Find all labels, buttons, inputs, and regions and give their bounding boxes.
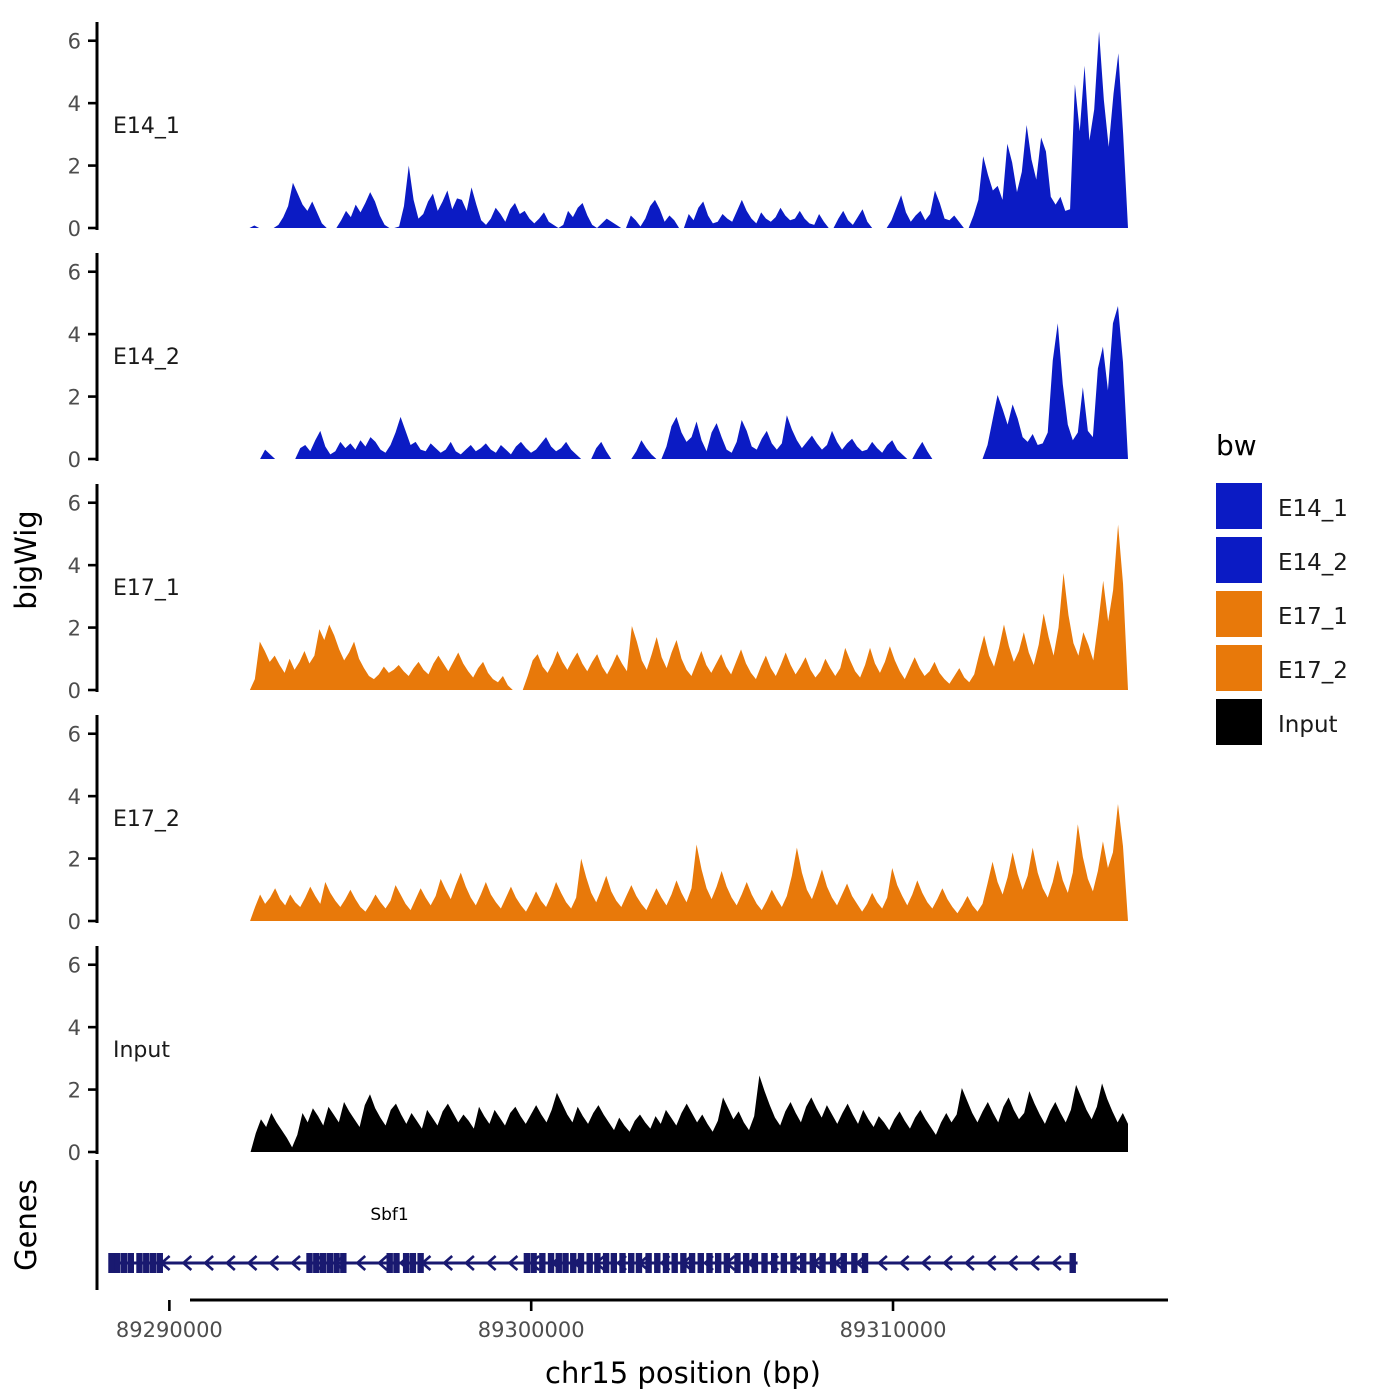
gene-exon	[150, 1253, 156, 1273]
gene-exon	[734, 1253, 740, 1273]
gene-exon	[108, 1253, 114, 1273]
track-label-input: Input	[113, 1038, 170, 1063]
track-label-e17_2: E17_2	[113, 807, 180, 832]
legend-label-e14_1: E14_1	[1278, 496, 1348, 522]
gene-exon	[387, 1253, 393, 1273]
x-tick-label-89300000: 89300000	[478, 1318, 585, 1342]
track-panel-e17_2: 0246E17_2	[68, 715, 1128, 934]
y-tick-label-6: 6	[68, 492, 81, 516]
track-area-e14_2	[235, 306, 1128, 459]
legend-label-e17_2: E17_2	[1278, 658, 1348, 684]
legend-item-input[interactable]: Input	[1216, 699, 1338, 745]
gene-exon	[128, 1253, 134, 1273]
y-tick-label-0: 0	[68, 217, 81, 241]
gene-exon	[715, 1253, 721, 1273]
x-axis-title: chr15 position (bp)	[545, 1356, 821, 1390]
legend-swatch-input	[1216, 699, 1262, 745]
track-area-input	[235, 1076, 1128, 1152]
gene-exon	[671, 1253, 677, 1273]
gene-exon	[562, 1253, 568, 1273]
gene-exon	[143, 1253, 149, 1273]
legend-label-e14_2: E14_2	[1278, 550, 1348, 576]
y-tick-label-6: 6	[68, 723, 81, 747]
y-tick-label-4: 4	[68, 1016, 81, 1040]
gene-exon	[761, 1253, 767, 1273]
y-tick-label-4: 4	[68, 785, 81, 809]
y-axis-title: bigWig	[9, 510, 43, 609]
y-tick-label-0: 0	[68, 448, 81, 472]
gene-exon	[654, 1253, 660, 1273]
track-area-e17_1	[235, 525, 1128, 690]
gene-exon	[1070, 1253, 1076, 1273]
y-tick-label-2: 2	[68, 848, 81, 872]
gene-exon	[800, 1253, 806, 1273]
gene-exon	[136, 1253, 142, 1273]
gene-exon	[586, 1253, 592, 1273]
legend-swatch-e14_1	[1216, 483, 1262, 529]
genes-axis-title: Genes	[9, 1179, 43, 1271]
gene-exon	[611, 1253, 617, 1273]
genes-panel	[97, 1160, 1078, 1290]
gene-exon	[114, 1253, 120, 1273]
genome-browser-figure: 0246E14_10246E14_20246E17_10246E17_20246…	[0, 0, 1400, 1400]
y-tick-label-4: 4	[68, 323, 81, 347]
gene-exon	[698, 1253, 704, 1273]
gene-exon	[327, 1253, 333, 1273]
y-tick-label-0: 0	[68, 910, 81, 934]
y-tick-label-6: 6	[68, 261, 81, 285]
gene-exon	[410, 1253, 416, 1273]
legend-swatch-e17_2	[1216, 645, 1262, 691]
track-panel-e17_1: 0246E17_1	[68, 484, 1128, 703]
track-label-e14_2: E14_2	[113, 345, 180, 370]
legend-item-e14_2[interactable]: E14_2	[1216, 537, 1348, 583]
gene-exon	[524, 1253, 530, 1273]
y-tick-label-6: 6	[68, 30, 81, 54]
track-panel-input: 0246Input	[68, 946, 1128, 1165]
legend-swatch-e17_1	[1216, 591, 1262, 637]
legend-swatch-e14_2	[1216, 537, 1262, 583]
track-area-e14_1	[235, 31, 1128, 228]
gene-name-label: Sbf1	[370, 1205, 408, 1225]
y-tick-label-4: 4	[68, 554, 81, 578]
track-label-e17_1: E17_1	[113, 576, 180, 601]
gene-exon	[628, 1253, 634, 1273]
track-panel-e14_2: 0246E14_2	[68, 253, 1128, 472]
y-tick-label-2: 2	[68, 1079, 81, 1103]
track-label-e14_1: E14_1	[113, 114, 180, 139]
y-tick-label-2: 2	[68, 386, 81, 410]
track-panel-e14_1: 0246E14_1	[68, 22, 1128, 241]
y-tick-label-0: 0	[68, 1141, 81, 1165]
gene-exon	[556, 1253, 562, 1273]
gene-exon	[539, 1253, 545, 1273]
gene-exon	[306, 1253, 312, 1273]
legend-title: bw	[1216, 429, 1257, 462]
x-tick-label-89290000: 89290000	[116, 1318, 223, 1342]
y-tick-label-4: 4	[68, 92, 81, 116]
y-tick-label-6: 6	[68, 954, 81, 978]
legend-item-e14_1[interactable]: E14_1	[1216, 483, 1348, 529]
legend-item-e17_2[interactable]: E17_2	[1216, 645, 1348, 691]
gene-exon	[393, 1253, 399, 1273]
y-tick-label-0: 0	[68, 679, 81, 703]
y-tick-label-2: 2	[68, 155, 81, 179]
legend-label-e17_1: E17_1	[1278, 604, 1348, 630]
track-area-e17_2	[235, 804, 1128, 921]
legend-label-input: Input	[1278, 712, 1338, 738]
legend-item-e17_1[interactable]: E17_1	[1216, 591, 1348, 637]
gene-exon	[121, 1253, 127, 1273]
gene-exon	[781, 1253, 787, 1273]
y-tick-label-2: 2	[68, 617, 81, 641]
figure-canvas: 0246E14_10246E14_20246E17_10246E17_20246…	[0, 0, 1400, 1400]
x-tick-label-89310000: 89310000	[840, 1318, 947, 1342]
